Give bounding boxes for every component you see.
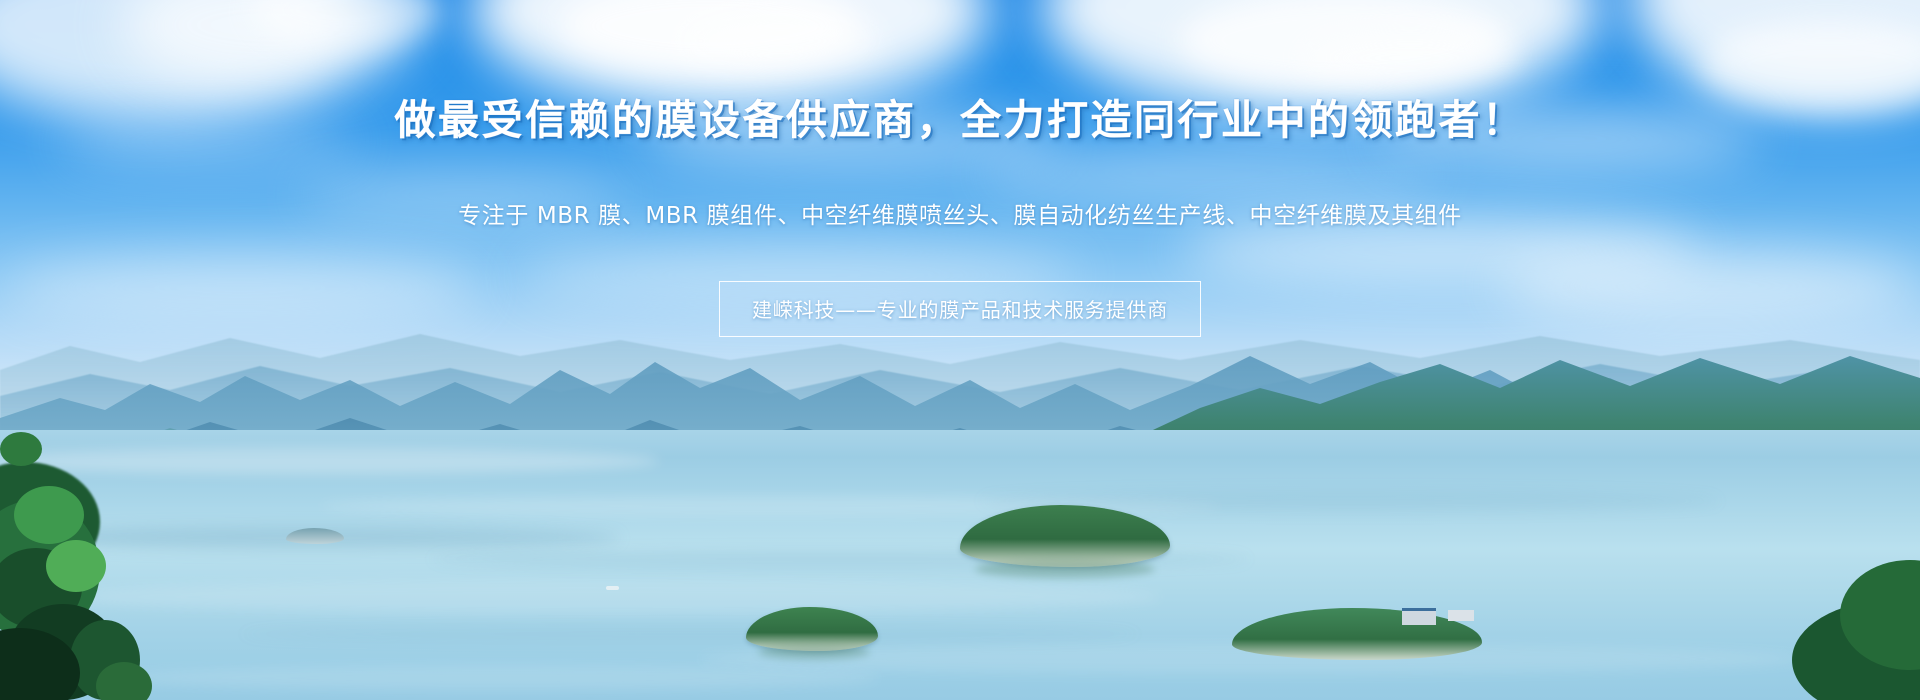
tagline-box[interactable]: 建嵘科技——专业的膜产品和技术服务提供商 xyxy=(719,281,1201,337)
island-far-left xyxy=(286,528,344,544)
shore-building-2 xyxy=(1448,610,1474,621)
boat-icon xyxy=(606,586,619,590)
shore-building xyxy=(1402,608,1436,625)
lake-water xyxy=(0,430,1920,700)
hero-banner: 做最受信赖的膜设备供应商，全力打造同行业中的领跑者！ 专注于 MBR 膜、MBR… xyxy=(0,0,1920,700)
